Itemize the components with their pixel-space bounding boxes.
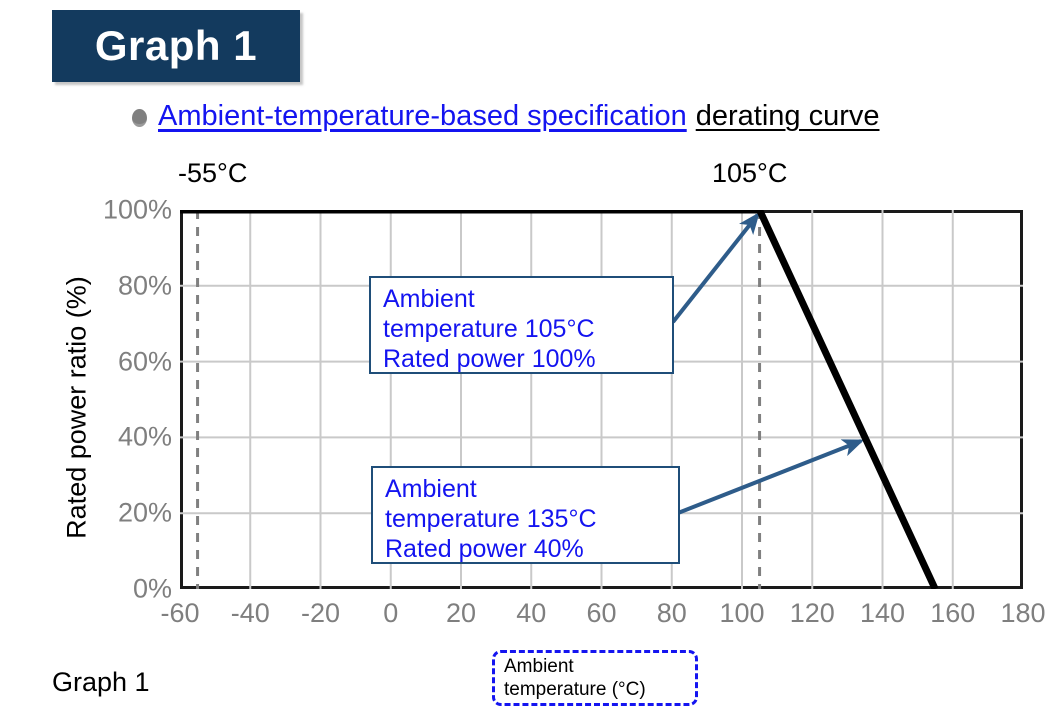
x-tick-label: -20 <box>301 598 340 629</box>
y-tick-label: 60% <box>52 346 172 377</box>
y-tick-label: 100% <box>52 195 172 226</box>
subtitle: Ambient-temperature-based specification … <box>132 100 880 133</box>
x-tick-label: 140 <box>860 598 905 629</box>
y-axis-tick-labels: 0%20%40%60%80%100% <box>46 0 172 720</box>
callout-135c: Ambient temperature 135°C Rated power 40… <box>371 466 680 564</box>
callout-135c-line2: temperature 135°C <box>385 505 668 535</box>
callout-105c-line1: Ambient <box>383 285 662 315</box>
x-tick-label: 0 <box>383 598 398 629</box>
x-axis-label-line2: temperature (°C) <box>504 678 695 701</box>
x-tick-label: 160 <box>930 598 975 629</box>
x-tick-label: 100 <box>719 598 764 629</box>
leader-arrow-135c <box>678 441 861 513</box>
x-tick-label: 40 <box>516 598 546 629</box>
x-tick-label: -60 <box>160 598 199 629</box>
x-tick-label: 180 <box>1000 598 1045 629</box>
x-tick-label: 80 <box>657 598 687 629</box>
x-tick-label: 120 <box>790 598 835 629</box>
figure-caption: Graph 1 <box>52 667 150 698</box>
x-axis-label-box: Ambient temperature (°C) <box>492 650 698 706</box>
callout-105c-line3: Rated power 100% <box>383 345 662 375</box>
callout-135c-line3: Rated power 40% <box>385 535 668 565</box>
x-tick-label: -40 <box>231 598 270 629</box>
y-tick-label: 20% <box>52 498 172 529</box>
y-tick-label: 80% <box>52 270 172 301</box>
subtitle-rest: derating curve <box>696 100 880 133</box>
x-tick-label: 60 <box>586 598 616 629</box>
callout-105c-line2: temperature 105°C <box>383 315 662 345</box>
y-tick-label: 40% <box>52 422 172 453</box>
subtitle-highlight: Ambient-temperature-based specification <box>158 100 687 133</box>
x-tick-label: 20 <box>446 598 476 629</box>
callout-135c-line1: Ambient <box>385 475 668 505</box>
y-tick-label: 0% <box>52 574 172 605</box>
top-label-minus-55c: -55°C <box>178 158 247 189</box>
callout-105c: Ambient temperature 105°C Rated power 10… <box>369 276 674 374</box>
x-axis-label-line1: Ambient <box>504 655 695 678</box>
top-label-105c: 105°C <box>712 158 787 189</box>
leader-arrow-105c <box>673 215 758 322</box>
